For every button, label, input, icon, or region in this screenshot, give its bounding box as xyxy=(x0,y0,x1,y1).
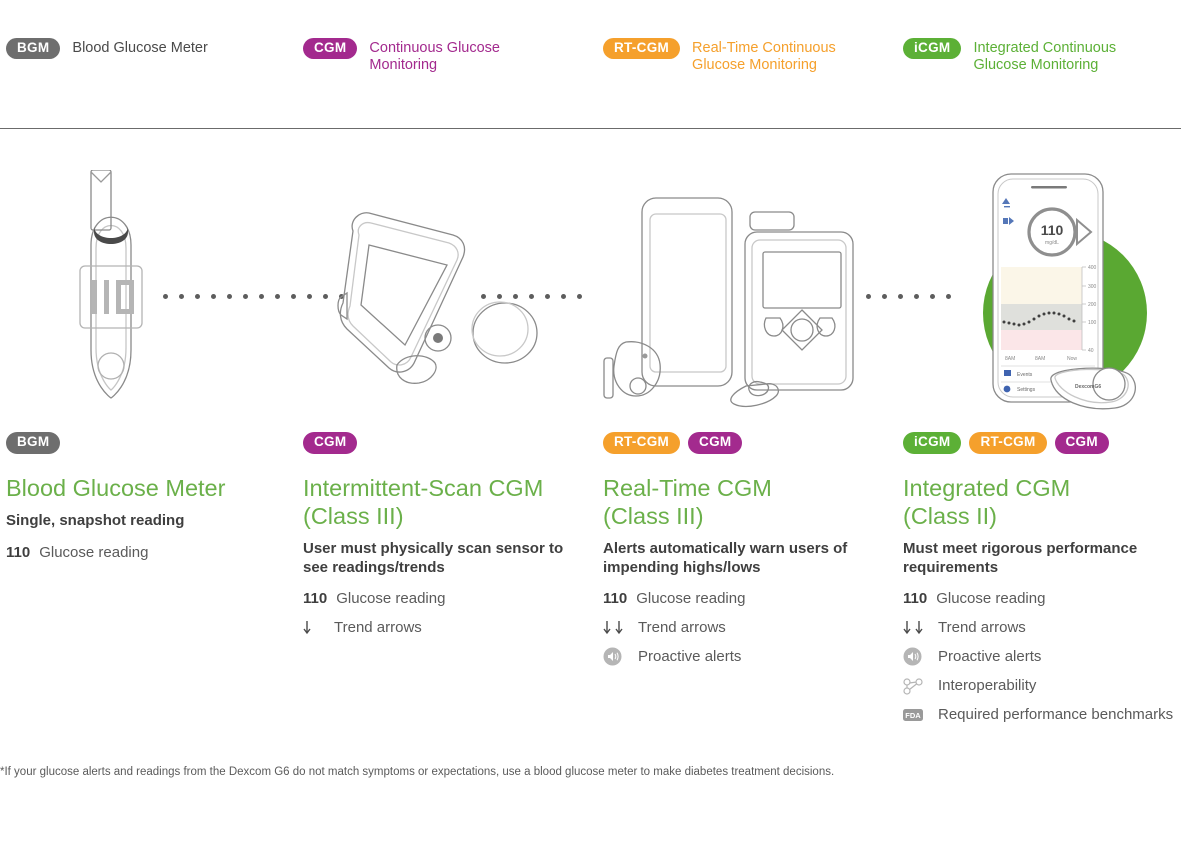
feature-glucose-reading: 110 Glucose reading xyxy=(303,589,583,608)
feature-trend-arrows: Trend arrows xyxy=(603,618,883,637)
feature-required-performance-benchmarks: FDA Required performance benchmarks xyxy=(903,705,1175,724)
column-title: Blood Glucose Meter xyxy=(6,474,276,502)
feature-trend-arrows: Trend arrows xyxy=(903,618,1175,637)
column-integrated-cgm: iCGM RT-CGM CGM Integrated CGM (Class II… xyxy=(903,432,1175,734)
legend-label-icgm: Integrated Continuous Glucose Monitoring xyxy=(973,38,1148,74)
connector-dots-3 xyxy=(866,294,961,300)
badge-cgm: CGM xyxy=(1055,432,1109,453)
column-intermittent-scan-cgm: CGM Intermittent-Scan CGM (Class III) Us… xyxy=(303,432,583,647)
svg-text:110: 110 xyxy=(1041,222,1064,238)
feature-label: Trend arrows xyxy=(638,618,726,637)
svg-text:8AM: 8AM xyxy=(1005,356,1015,362)
badge-rtcgm: RT-CGM xyxy=(603,38,680,59)
svg-text:Settings: Settings xyxy=(1017,387,1036,393)
speaker-icon xyxy=(603,647,629,666)
interoperability-icon xyxy=(903,676,929,695)
feature-label: Glucose reading xyxy=(336,589,445,608)
feature-label: Glucose reading xyxy=(936,589,1045,608)
feature-label: Proactive alerts xyxy=(938,647,1041,666)
footnote: *If your glucose alerts and readings fro… xyxy=(0,766,834,778)
feature-glucose-reading: 110 Glucose reading xyxy=(6,543,276,562)
column-title: Integrated CGM (Class II) xyxy=(903,474,1175,530)
illustration-scan-reader-and-sensor xyxy=(335,205,550,385)
svg-text:300: 300 xyxy=(1088,284,1097,290)
feature-glucose-reading: 110 Glucose reading xyxy=(603,589,883,608)
svg-text:Events: Events xyxy=(1017,372,1033,378)
svg-text:mg/dL: mg/dL xyxy=(1045,240,1059,246)
feature-label: Required performance benchmarks xyxy=(938,705,1173,724)
column-badges: RT-CGM CGM xyxy=(603,432,883,454)
trend-arrow-icon xyxy=(303,618,325,637)
connector-dots-1 xyxy=(163,294,353,300)
speaker-icon xyxy=(903,647,929,666)
glucose-value: 110 xyxy=(6,543,30,562)
badge-rtcgm: RT-CGM xyxy=(969,432,1046,453)
feature-interoperability: Interoperability xyxy=(903,676,1175,695)
header-divider xyxy=(0,128,1181,129)
illustration-icgm-app: 110 mg/dL 400300 20010040 8AM8AMNow xyxy=(955,170,1155,420)
legend-item-icgm: iCGM Integrated Continuous Glucose Monit… xyxy=(903,38,1148,74)
svg-text:40: 40 xyxy=(1088,348,1094,354)
feature-proactive-alerts: Proactive alerts xyxy=(903,647,1175,666)
glucose-value: 110 xyxy=(603,589,627,608)
svg-text:DexcomG6: DexcomG6 xyxy=(1075,384,1101,390)
column-badges: BGM xyxy=(6,432,276,454)
svg-text:FDA: FDA xyxy=(905,711,921,720)
badge-cgm: CGM xyxy=(303,38,357,59)
badge-icgm: iCGM xyxy=(903,432,961,453)
svg-text:100: 100 xyxy=(1088,320,1097,326)
svg-text:200: 200 xyxy=(1088,302,1097,308)
feature-label: Glucose reading xyxy=(636,589,745,608)
column-title: Intermittent-Scan CGM (Class III) xyxy=(303,474,583,530)
legend-label-rtcgm: Real-Time Continuous Glucose Monitoring xyxy=(692,38,867,74)
legend-label-cgm: Continuous Glucose Monitoring xyxy=(369,38,544,74)
svg-text:400: 400 xyxy=(1088,265,1097,271)
column-real-time-cgm: RT-CGM CGM Real-Time CGM (Class III) Ale… xyxy=(603,432,883,676)
column-subtitle: Must meet rigorous performance requireme… xyxy=(903,540,1175,577)
glucose-value: 110 xyxy=(303,589,327,608)
badge-bgm: BGM xyxy=(6,432,60,453)
column-subtitle: User must physically scan sensor to see … xyxy=(303,540,583,577)
illustration-blood-glucose-meter xyxy=(36,170,186,410)
fda-icon: FDA xyxy=(903,705,929,724)
badge-rtcgm: RT-CGM xyxy=(603,432,680,453)
columns-row: BGM Blood Glucose Meter Single, snapshot… xyxy=(0,432,1181,752)
feature-label: Glucose reading xyxy=(39,543,148,562)
legend-item-rtcgm: RT-CGM Real-Time Continuous Glucose Moni… xyxy=(603,38,867,74)
feature-label: Interoperability xyxy=(938,676,1036,695)
feature-label: Trend arrows xyxy=(938,618,1026,637)
badge-bgm: BGM xyxy=(6,38,60,59)
feature-proactive-alerts: Proactive alerts xyxy=(603,647,883,666)
column-subtitle: Alerts automatically warn users of impen… xyxy=(603,540,883,577)
trend-arrow-double-icon xyxy=(903,618,929,637)
badge-cgm: CGM xyxy=(303,432,357,453)
column-title: Real-Time CGM (Class III) xyxy=(603,474,883,530)
legend: BGM Blood Glucose Meter CGM Continuous G… xyxy=(0,0,1181,100)
feature-glucose-reading: 110 Glucose reading xyxy=(903,589,1175,608)
legend-item-bgm: BGM Blood Glucose Meter xyxy=(6,38,208,59)
glucose-value: 110 xyxy=(903,589,927,608)
column-badges: iCGM RT-CGM CGM xyxy=(903,432,1175,454)
svg-text:8AM: 8AM xyxy=(1035,356,1045,362)
illustration-row: 110 mg/dL 400300 20010040 8AM8AMNow xyxy=(0,150,1181,420)
feature-trend-arrows: Trend arrows xyxy=(303,618,583,637)
trend-arrow-double-icon xyxy=(603,618,629,637)
column-badges: CGM xyxy=(303,432,583,454)
badge-icgm: iCGM xyxy=(903,38,961,59)
legend-label-bgm: Blood Glucose Meter xyxy=(72,38,207,57)
legend-item-cgm: CGM Continuous Glucose Monitoring xyxy=(303,38,544,74)
column-subtitle: Single, snapshot reading xyxy=(6,512,276,531)
feature-label: Trend arrows xyxy=(334,618,422,637)
badge-cgm: CGM xyxy=(688,432,742,453)
illustration-rtcgm-devices xyxy=(600,190,860,415)
feature-label: Proactive alerts xyxy=(638,647,741,666)
svg-text:Now: Now xyxy=(1067,356,1077,362)
column-bgm: BGM Blood Glucose Meter Single, snapshot… xyxy=(6,432,276,572)
